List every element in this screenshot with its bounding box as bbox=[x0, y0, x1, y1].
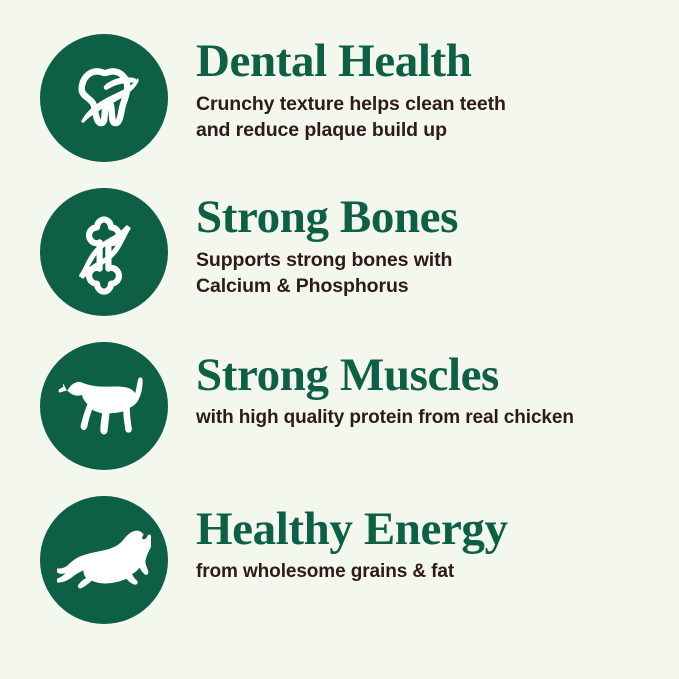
benefit-description-line: with high quality protein from real chic… bbox=[196, 405, 574, 430]
benefit-row: Healthy Energy from wholesome grains & f… bbox=[40, 496, 661, 649]
tooth-leaf-icon bbox=[61, 55, 147, 141]
benefit-text: Dental Health Crunchy texture helps clea… bbox=[196, 34, 506, 143]
benefit-row: Strong Bones Supports strong bones with … bbox=[40, 188, 661, 341]
benefit-title: Healthy Energy bbox=[196, 506, 508, 553]
benefit-description-line: Crunchy texture helps clean teeth bbox=[196, 91, 506, 117]
benefit-row: Strong Muscles with high quality protein… bbox=[40, 342, 661, 495]
tooth-leaf-icon-badge bbox=[40, 34, 168, 162]
bone-leaf-icon-badge bbox=[40, 188, 168, 316]
benefit-description: from wholesome grains & fat bbox=[196, 559, 508, 584]
benefit-description: Crunchy texture helps clean teeth and re… bbox=[196, 91, 506, 143]
benefits-panel: Dental Health Crunchy texture helps clea… bbox=[0, 0, 679, 679]
bone-leaf-icon bbox=[60, 208, 148, 296]
leaping-dog-icon bbox=[57, 513, 151, 607]
benefit-description: Supports strong bones with Calcium & Pho… bbox=[196, 247, 458, 299]
benefit-title: Strong Bones bbox=[196, 194, 458, 241]
benefit-text: Healthy Energy from wholesome grains & f… bbox=[196, 496, 508, 584]
benefit-title: Dental Health bbox=[196, 38, 506, 85]
benefit-description-line: Supports strong bones with bbox=[196, 247, 458, 273]
benefit-row: Dental Health Crunchy texture helps clea… bbox=[40, 34, 661, 187]
standing-dog-icon-badge bbox=[40, 342, 168, 470]
benefit-description-line: from wholesome grains & fat bbox=[196, 559, 508, 584]
benefit-text: Strong Muscles with high quality protein… bbox=[196, 342, 574, 430]
benefit-description: with high quality protein from real chic… bbox=[196, 405, 574, 430]
standing-dog-icon bbox=[58, 360, 150, 452]
benefit-text: Strong Bones Supports strong bones with … bbox=[196, 188, 458, 299]
benefit-description-line: Calcium & Phosphorus bbox=[196, 273, 458, 299]
benefit-description-line: and reduce plaque build up bbox=[196, 117, 506, 143]
leaping-dog-icon-badge bbox=[40, 496, 168, 624]
benefit-title: Strong Muscles bbox=[196, 352, 574, 399]
